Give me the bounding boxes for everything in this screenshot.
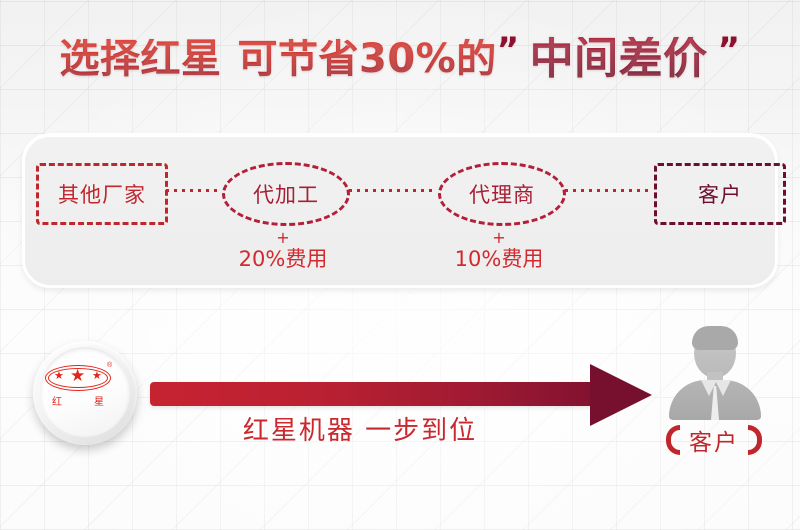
fee-amount: 20%费用 — [203, 248, 363, 271]
quote-open-mark: ” — [497, 33, 520, 67]
registered-trademark-icon: ® — [107, 362, 112, 369]
chain-node-label: 客户 — [698, 179, 742, 209]
chain-node-label: 代加工 — [253, 179, 319, 209]
logo-char-hong: 红 — [52, 393, 62, 408]
plus-sign: + — [419, 230, 579, 246]
headline-part2: 可节省30%的 — [238, 39, 497, 79]
headline-part1: 选择红星 — [60, 39, 222, 79]
chain-node-label: 代理商 — [469, 179, 535, 209]
fee-amount: 10%费用 — [419, 248, 579, 271]
connector-dots-3 — [565, 189, 649, 192]
chain-node-other-factory: 其他厂家 — [36, 163, 168, 225]
star-icon-left: ★ — [54, 371, 64, 382]
chain-node-oem: 代加工 — [222, 162, 350, 226]
brand-logo-badge: ★ ★ ★ ® 红 星 — [33, 341, 137, 445]
customer-label-text: 客户 — [689, 423, 739, 457]
logo-chinese-name: 红 星 — [45, 393, 111, 408]
plus-sign: + — [203, 230, 363, 246]
connector-dots-1 — [166, 189, 218, 192]
headline: 选择红星 可节省30%的 ” 中间差价 ” — [0, 28, 800, 90]
arrow-shaft — [150, 382, 612, 406]
chain-node-customer: 客户 — [654, 163, 786, 225]
logo-char-xing: 星 — [94, 393, 104, 408]
customer-avatar — [663, 328, 767, 420]
poster-canvas: 选择红星 可节省30%的 ” 中间差价 ” 其他厂家 代加工 代理商 客户 + … — [0, 0, 800, 530]
avatar-hair — [692, 326, 738, 350]
hongxing-logo-icon: ★ ★ ★ ® 红 星 — [45, 365, 111, 409]
star-icon-center: ★ — [70, 367, 85, 384]
bracket-left-icon — [666, 425, 680, 455]
connector-dots-2 — [349, 189, 433, 192]
chain-node-label: 其他厂家 — [58, 179, 146, 209]
avatar-collar-right — [715, 380, 731, 396]
customer-label-group: 客户 — [648, 420, 780, 460]
arrow-head-icon — [590, 364, 652, 426]
headline-emphasis: 中间差价 — [520, 37, 718, 81]
fee-markup-oem: + 20%费用 — [203, 230, 363, 271]
slogan-text: 红星机器 一步到位 — [150, 410, 570, 447]
chain-node-agent: 代理商 — [438, 162, 566, 226]
bracket-right-icon — [748, 425, 762, 455]
star-icon-right: ★ — [92, 371, 102, 382]
fee-markup-agent: + 10%费用 — [419, 230, 579, 271]
quote-close-mark: ” — [718, 33, 741, 67]
